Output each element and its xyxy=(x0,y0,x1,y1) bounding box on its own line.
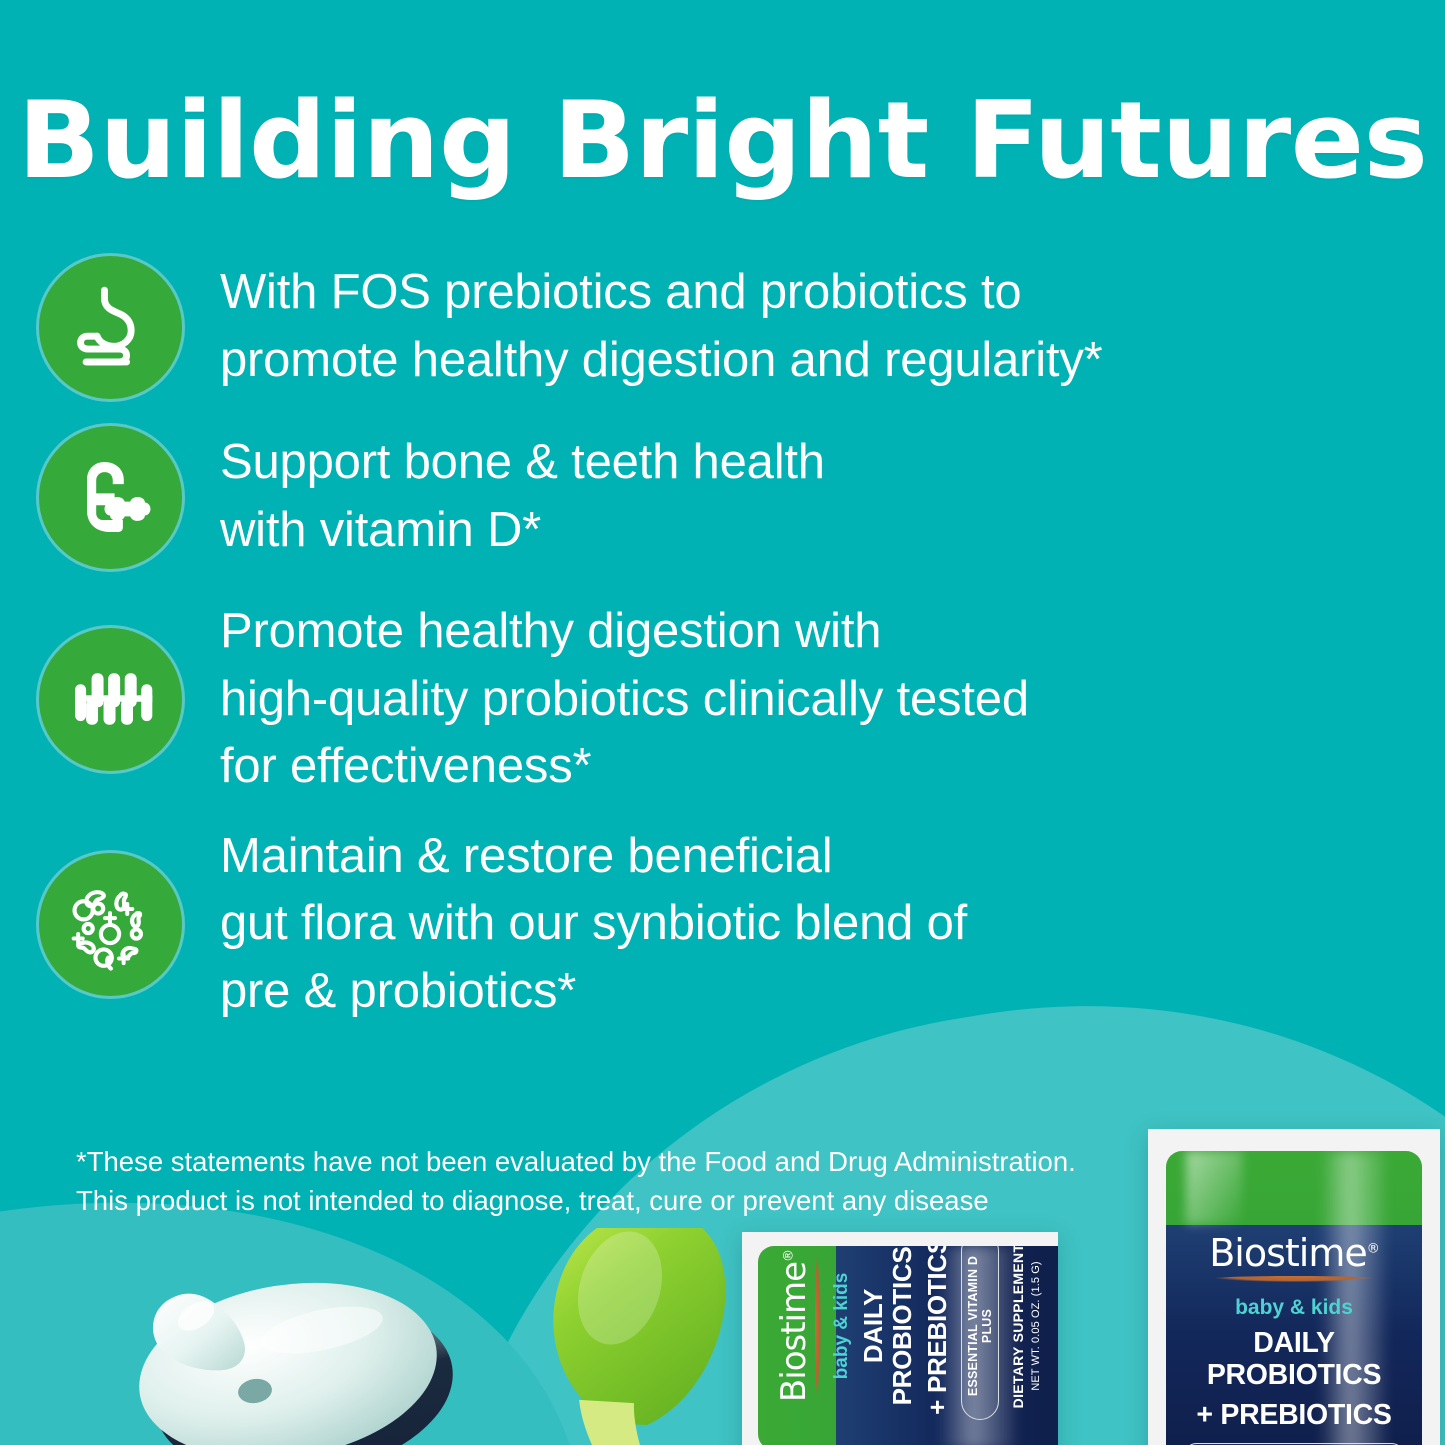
baby-spoon xyxy=(470,1228,750,1445)
brand-name: Biostime xyxy=(774,1262,814,1402)
product-name-line1: DAILY PROBIOTICS xyxy=(1166,1328,1422,1392)
product-name-line2: + PREBIOTICS xyxy=(1166,1400,1422,1432)
gut-flora-bacteria-icon xyxy=(39,853,182,996)
brand-name: Biostime xyxy=(1209,1231,1367,1275)
benefit-row: With FOS prebiotics and probiotics to pr… xyxy=(0,252,1445,402)
benefit-icon-wrap xyxy=(0,628,220,771)
net-weight: NET WT. 0.05 OZ. (1.5 G) xyxy=(1030,1261,1042,1390)
product-name-line1: DAILY PROBIOTICS xyxy=(859,1246,917,1420)
promo-image: Building Bright Futures With FOS prebiot… xyxy=(0,0,1445,1445)
benefits-list: With FOS prebiotics and probiotics to pr… xyxy=(0,252,1445,1026)
product-sachet-rotated: Biostime® baby & kids DAILY PROBIOTICS +… xyxy=(742,1232,1058,1445)
audience-label: baby & kids xyxy=(1166,1296,1422,1320)
benefit-row: Support bone & teeth health with vitamin… xyxy=(0,422,1445,572)
benefit-text: Promote healthy digestion with high-qual… xyxy=(220,598,1445,801)
teeth-icon xyxy=(39,628,182,771)
benefit-icon-wrap xyxy=(0,256,220,399)
fda-disclaimer: *These statements have not been evaluate… xyxy=(76,1142,1136,1220)
sachet-foil: Biostime® baby & kids DAILY PROBIOTICS +… xyxy=(758,1246,1058,1445)
brand-logo: Biostime® xyxy=(774,1250,821,1402)
claim-badge: ESSENTIAL VITAMIN D PLUS xyxy=(961,1246,999,1420)
brand-swoosh xyxy=(815,1250,821,1402)
registered-mark: ® xyxy=(1367,1241,1379,1256)
foil-shine-top xyxy=(1186,1151,1242,1225)
product-name-line2: + PREBIOTICS xyxy=(923,1246,952,1415)
page-title: Building Bright Futures xyxy=(0,86,1445,196)
sachet-label: Biostime® baby & kids DAILY PROBIOTICS +… xyxy=(758,1246,1058,1445)
benefit-row: Promote healthy digestion with high-qual… xyxy=(0,598,1445,801)
brand-swoosh xyxy=(1209,1276,1379,1282)
audience-label: baby & kids xyxy=(831,1273,853,1380)
benefit-icon-wrap xyxy=(0,426,220,569)
flexed-arm-bone-icon xyxy=(39,426,182,569)
supplement-category: DIETARY SUPPLEMENT xyxy=(1010,1246,1026,1408)
baby-pacifier xyxy=(92,1238,492,1445)
brand-logo: Biostime® xyxy=(1209,1231,1379,1282)
sachet-foil: Biostime® baby & kids DAILY PROBIOTICS +… xyxy=(1166,1151,1422,1445)
benefit-row: Maintain & restore beneficial gut flora … xyxy=(0,823,1445,1026)
registered-mark: ® xyxy=(782,1250,797,1262)
benefit-text: Maintain & restore beneficial gut flora … xyxy=(220,823,1445,1026)
benefit-icon-wrap xyxy=(0,853,220,996)
product-sachet-front: Biostime® baby & kids DAILY PROBIOTICS +… xyxy=(1148,1129,1440,1445)
digestive-system-icon xyxy=(39,256,182,399)
benefit-text: With FOS prebiotics and probiotics to pr… xyxy=(220,259,1445,394)
benefit-text: Support bone & teeth health with vitamin… xyxy=(220,429,1445,564)
sachet-label: Biostime® baby & kids DAILY PROBIOTICS +… xyxy=(1166,1231,1422,1445)
